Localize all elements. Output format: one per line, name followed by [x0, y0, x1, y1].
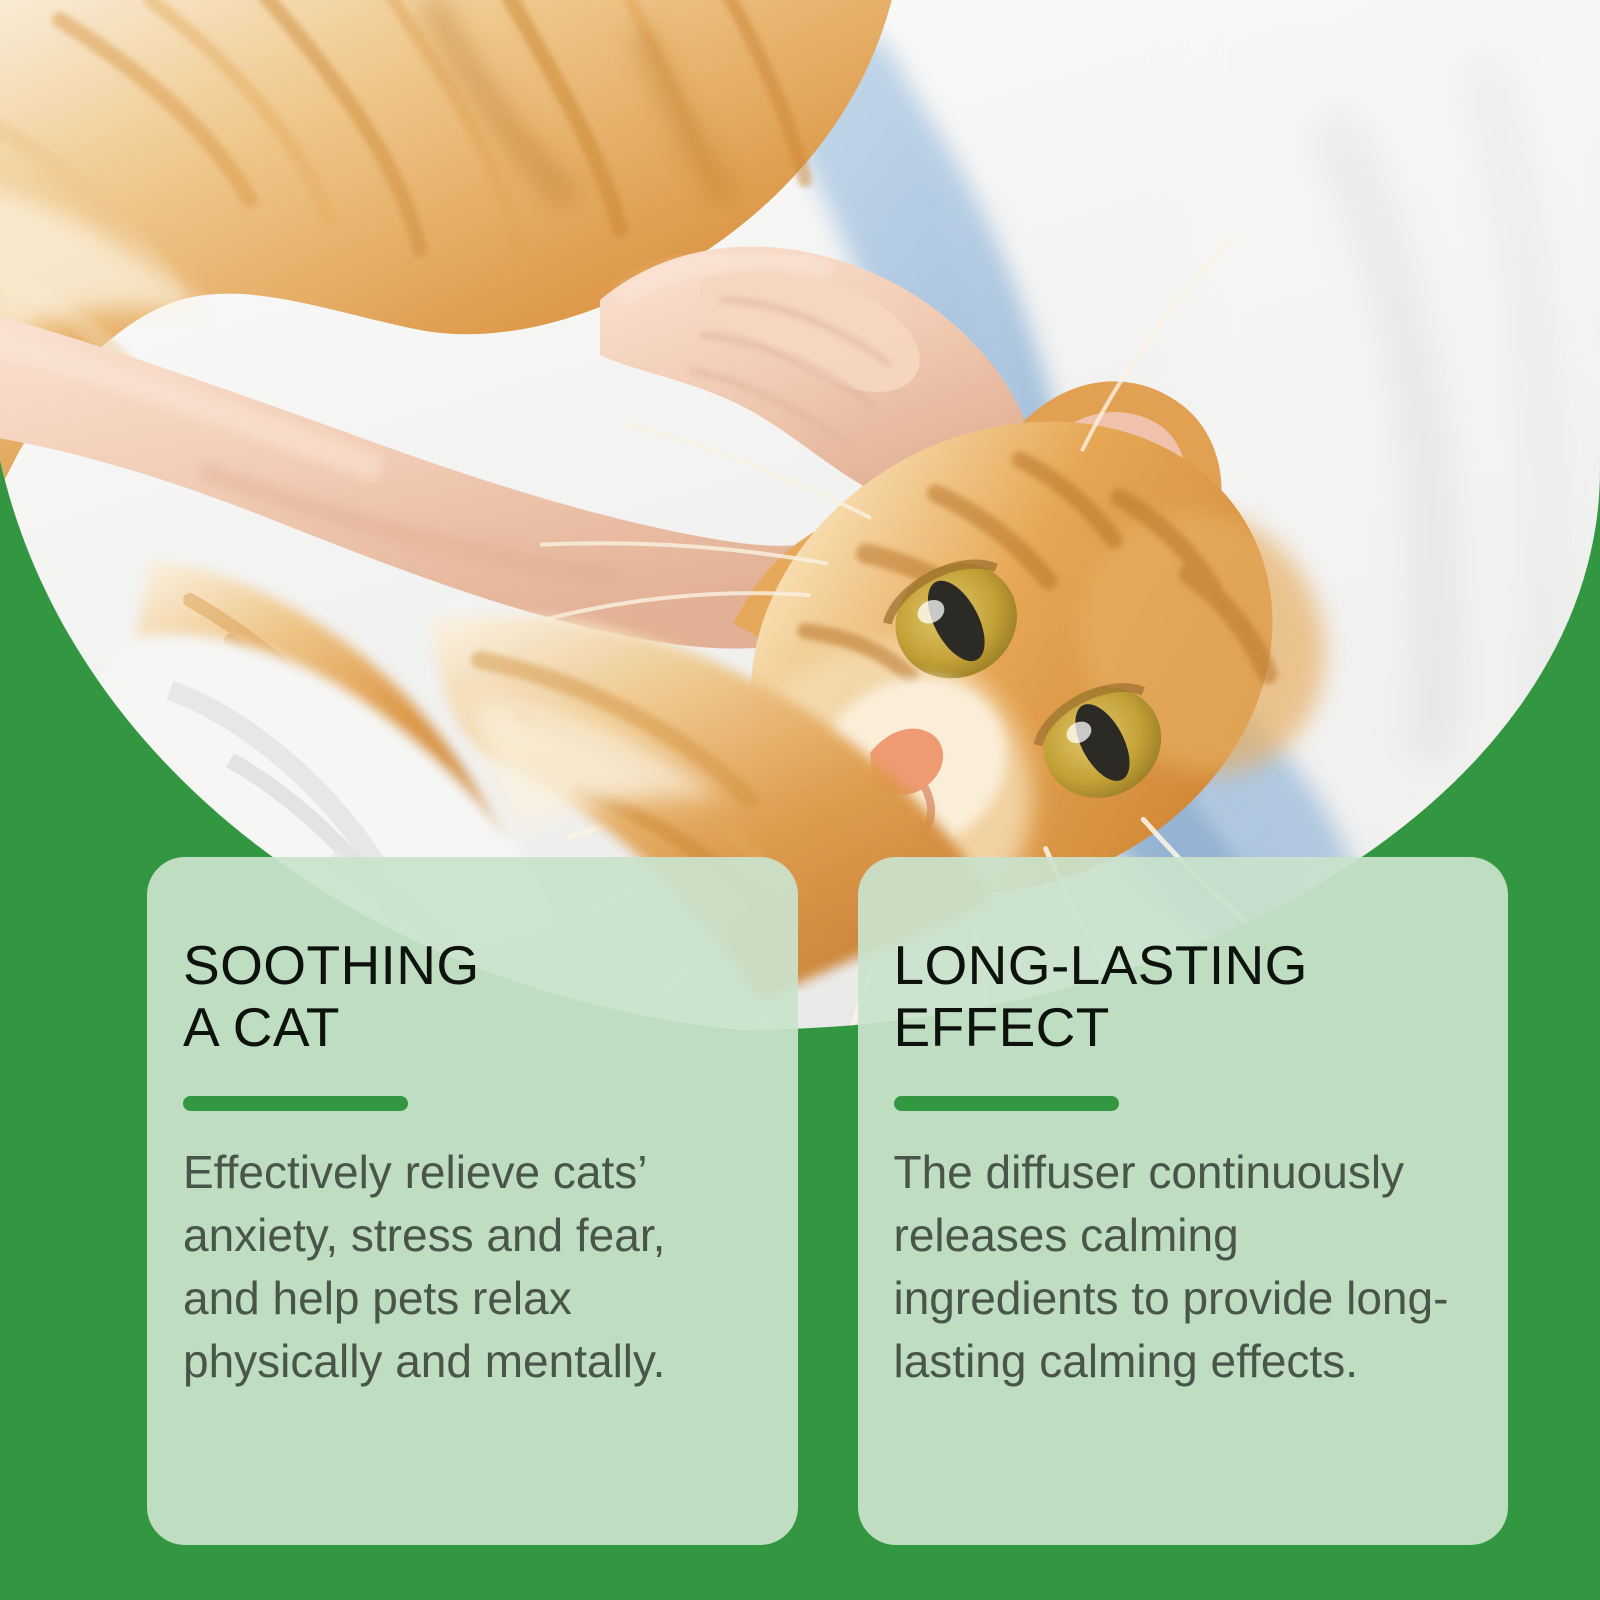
feature-card-long-lasting-effect: LONG-LASTING EFFECT The diffuser continu… [858, 857, 1509, 1545]
title-underline-rule [894, 1096, 1119, 1111]
feature-card-title: SOOTHING A CAT [183, 935, 740, 1058]
feature-card-row: SOOTHING A CAT Effectively relieve cats’… [147, 857, 1508, 1545]
feature-card-body: The diffuser continuously releases calmi… [894, 1141, 1451, 1393]
title-underline-rule [183, 1096, 408, 1111]
product-feature-infographic: SOOTHING A CAT Effectively relieve cats’… [0, 0, 1600, 1600]
feature-card-title: LONG-LASTING EFFECT [894, 935, 1451, 1058]
feature-card-body: Effectively relieve cats’ anxiety, stres… [183, 1141, 740, 1393]
feature-card-soothing-a-cat: SOOTHING A CAT Effectively relieve cats’… [147, 857, 798, 1545]
